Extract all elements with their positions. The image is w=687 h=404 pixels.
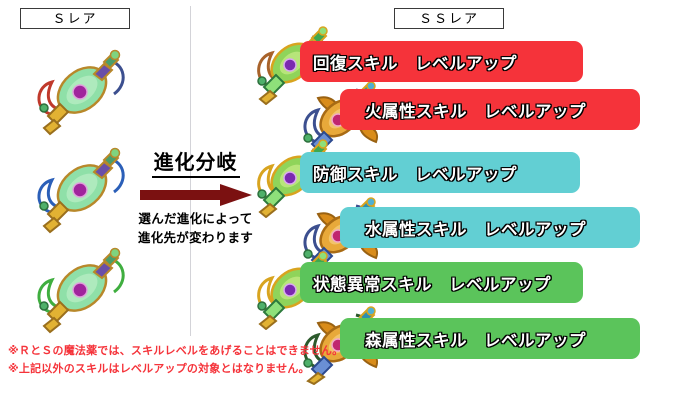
- potion-s-red-icon: [30, 42, 140, 137]
- skill-banner-label: 火属性スキル レベルアップ: [365, 98, 586, 122]
- infographic-canvas: Ｓレア ＳＳレア: [0, 0, 687, 404]
- footnotes-block: ※ＲとＳの魔法薬では、スキルレベルをあげることはできません。 ※上記以外のスキル…: [8, 342, 348, 378]
- evolution-note-line1: 選んだ進化によって: [128, 210, 263, 229]
- skill-banner-label: 防御スキル レベルアップ: [313, 161, 517, 185]
- skill-banner-label: 森属性スキル レベルアップ: [365, 327, 586, 351]
- evolution-note-line2: 進化先が変わります: [128, 229, 263, 248]
- right-arrow-icon: [138, 184, 254, 206]
- potion-s-blue-icon: [30, 140, 140, 235]
- skill-banner-status[interactable]: 状態異常スキル レベルアップ: [300, 262, 583, 303]
- skill-banner-label: 水属性スキル レベルアップ: [365, 216, 586, 240]
- skill-banner-defense[interactable]: 防御スキル レベルアップ: [300, 152, 580, 193]
- potion-s-green-icon: [30, 240, 140, 335]
- skill-banner-fire[interactable]: 火属性スキル レベルアップ: [340, 89, 640, 130]
- evolution-branch-block: 進化分岐 選んだ進化によって 進化先が変わります: [128, 146, 263, 248]
- rarity-label-s: Ｓレア: [20, 8, 130, 29]
- skill-banner-forest[interactable]: 森属性スキル レベルアップ: [340, 318, 640, 359]
- skill-banner-water[interactable]: 水属性スキル レベルアップ: [340, 207, 640, 248]
- rarity-label-ss: ＳＳレア: [394, 8, 504, 29]
- skill-banner-label: 回復スキル レベルアップ: [313, 50, 517, 74]
- footnote-line-2: ※上記以外のスキルはレベルアップの対象とはなりません。: [8, 360, 348, 378]
- skill-banner-recovery[interactable]: 回復スキル レベルアップ: [300, 41, 583, 82]
- evolution-branch-title: 進化分岐: [152, 146, 240, 178]
- skill-banner-label: 状態異常スキル レベルアップ: [313, 271, 551, 295]
- footnote-line-1: ※ＲとＳの魔法薬では、スキルレベルをあげることはできません。: [8, 342, 348, 360]
